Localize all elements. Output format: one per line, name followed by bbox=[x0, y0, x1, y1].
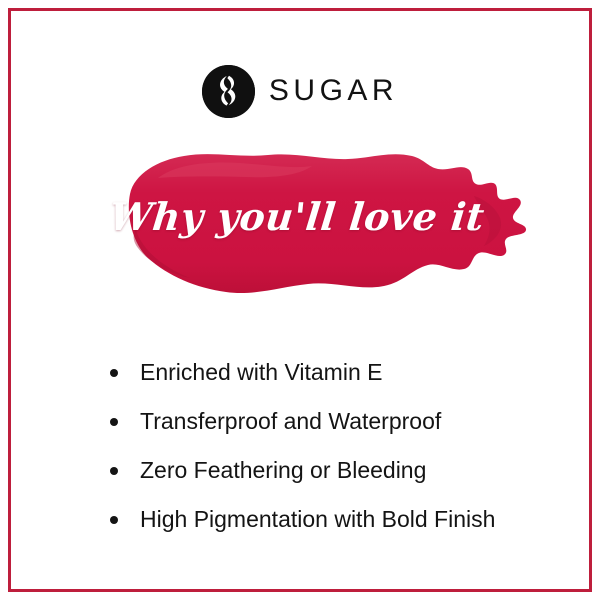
brand-wordmark: SUGAR bbox=[269, 76, 398, 106]
benefits-list: Enriched with Vitamin E Transferproof an… bbox=[104, 348, 534, 544]
sugar-s-monogram-icon bbox=[202, 65, 255, 118]
list-item: Zero Feathering or Bleeding bbox=[104, 446, 534, 495]
brand-logo: SUGAR bbox=[0, 62, 600, 120]
list-item: High Pigmentation with Bold Finish bbox=[104, 495, 534, 544]
benefit-label: Transferproof and Waterproof bbox=[140, 408, 441, 436]
bullet-icon bbox=[110, 369, 118, 377]
lipstick-swatch-banner: Why you'll love it bbox=[72, 138, 540, 306]
list-item: Transferproof and Waterproof bbox=[104, 397, 534, 446]
bullet-icon bbox=[110, 418, 118, 426]
list-item: Enriched with Vitamin E bbox=[104, 348, 534, 397]
benefit-label: High Pigmentation with Bold Finish bbox=[140, 506, 495, 534]
benefit-label: Zero Feathering or Bleeding bbox=[140, 457, 426, 485]
bullet-icon bbox=[110, 516, 118, 524]
lipstick-swatch-shape bbox=[129, 154, 526, 293]
product-benefits-card: SUGAR Why you'll love it bbox=[0, 0, 600, 600]
bullet-icon bbox=[110, 467, 118, 475]
benefit-label: Enriched with Vitamin E bbox=[140, 359, 382, 387]
